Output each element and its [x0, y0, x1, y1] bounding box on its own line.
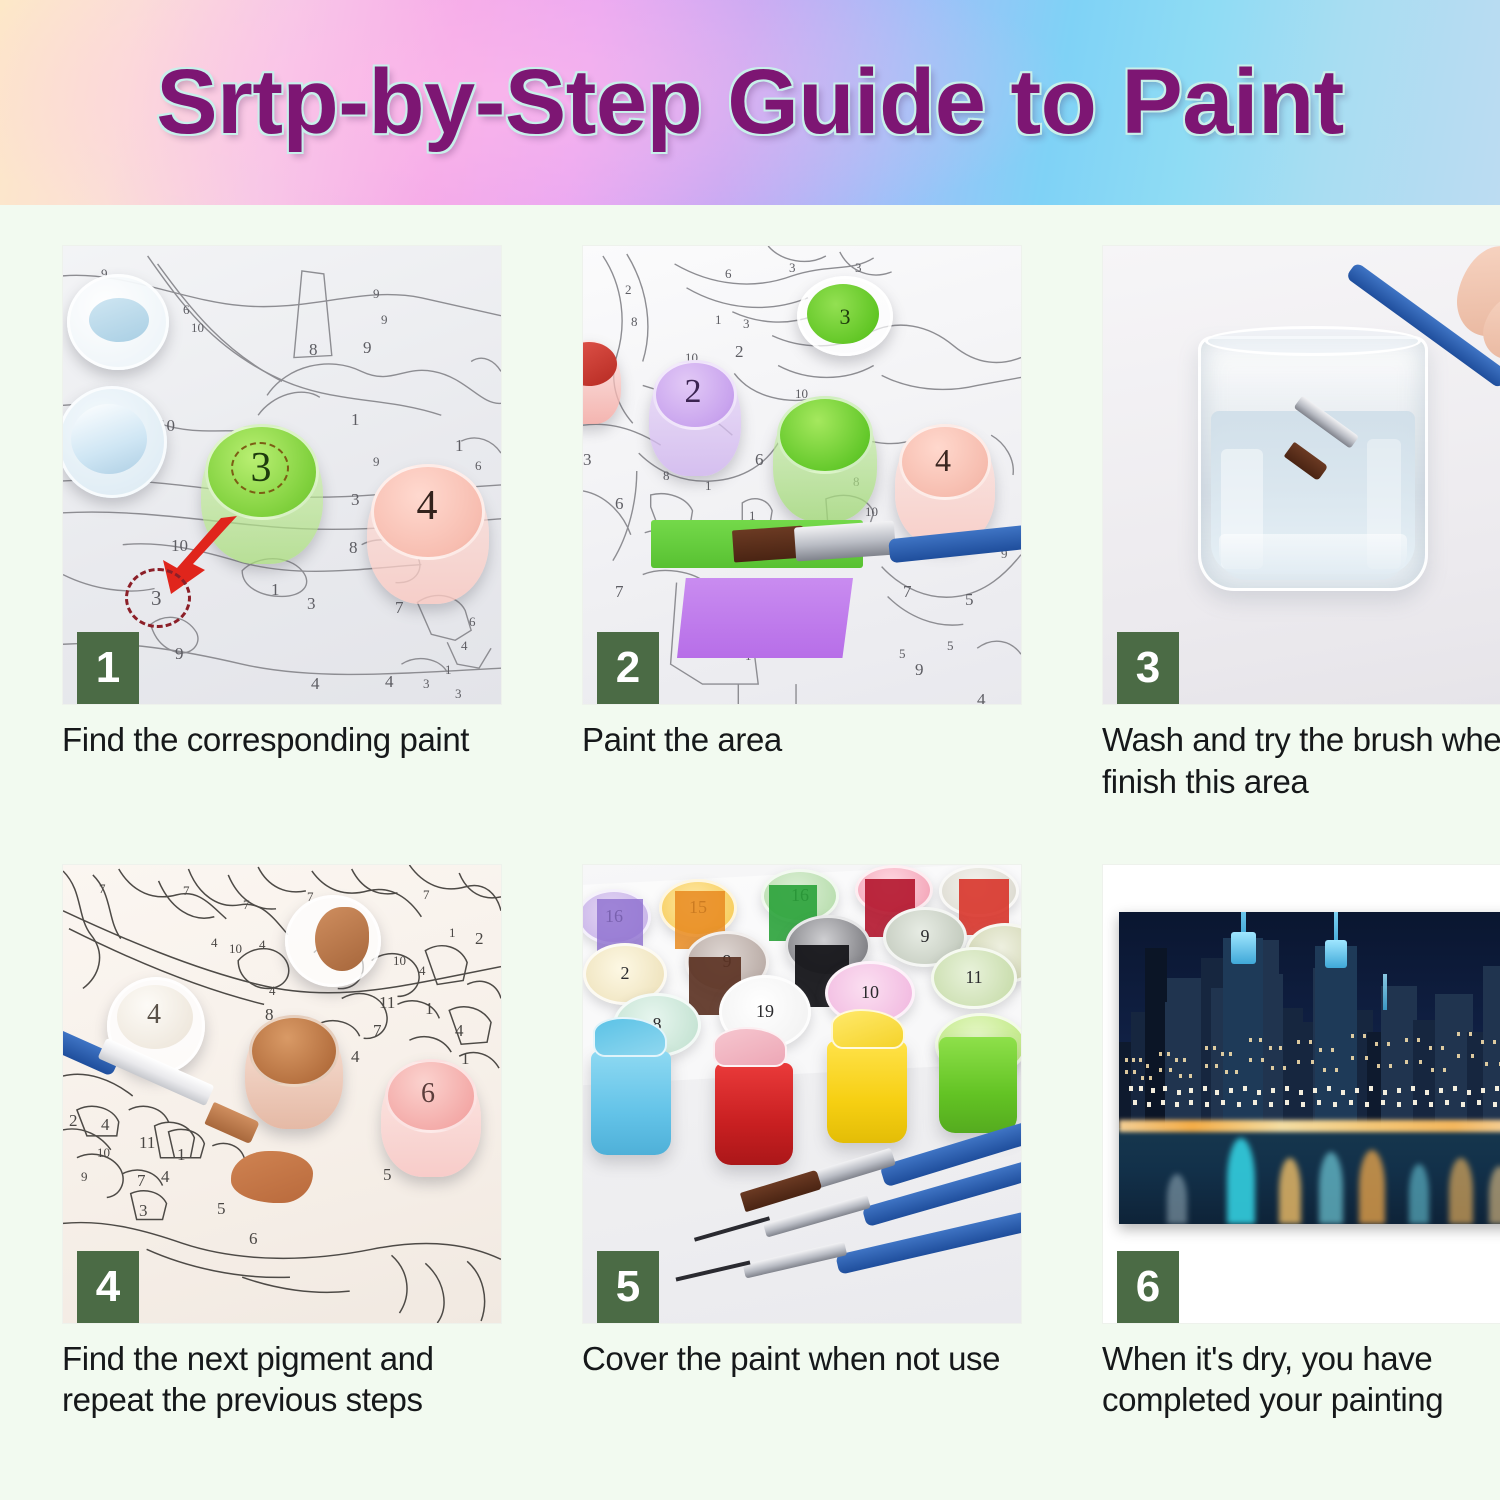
paint-pot-11: 11 [931, 947, 1017, 1009]
step-caption-1: Find the corresponding paint [62, 719, 502, 761]
canvas-number: 9 [175, 644, 184, 664]
canvas-number: 9 [363, 338, 372, 358]
canvas-number: 1 [715, 312, 722, 328]
step-cell-3: 3 Wash and try the brush when finish thi… [1062, 245, 1500, 864]
canvas-number: 10 [229, 941, 242, 957]
paint-pot-light-blue [62, 386, 167, 498]
step-caption-6: When it's dry, you have completed your p… [1102, 1338, 1500, 1421]
brush-ferrule [794, 521, 896, 562]
step-6-image: 6 [1102, 864, 1500, 1324]
canvas-number: 3 [307, 594, 316, 614]
canvas-number: 8 [663, 468, 670, 484]
water-reflection [1227, 1138, 1255, 1224]
canvas-number: 2 [735, 342, 744, 362]
waterfront-lights [1119, 1120, 1500, 1132]
canvas-number: 7 [373, 1021, 382, 1041]
steps-grid: 9 6 10 10 8 9 9 9 1 1 10 3 9 6 8 3 1 9 4… [0, 205, 1500, 1500]
step-caption-5: Cover the paint when not use [582, 1338, 1022, 1380]
paint-pot-pink-4: 4 [895, 424, 995, 546]
paint-pot-pink-6: 6 [381, 1059, 481, 1177]
pot-label-6: 6 [411, 1073, 445, 1115]
canvas-number: 9 [373, 286, 380, 302]
canvas-number: 8 [349, 538, 358, 558]
canvas-number: 5 [899, 646, 906, 662]
canvas-number: 4 [351, 1047, 360, 1067]
paint-pot-green-open [773, 396, 877, 522]
water-reflection [1279, 1158, 1301, 1224]
canvas-number: 10 [865, 504, 878, 520]
finished-painting [1119, 912, 1500, 1224]
canvas-number: 1 [445, 662, 452, 678]
canvas-number: 6 [615, 494, 624, 514]
canvas-number: 1 [449, 925, 456, 941]
paint-stroke [231, 1151, 313, 1203]
canvas-number: 8 [631, 314, 638, 330]
open-paint-pot-red [715, 1063, 793, 1165]
paint-pot-tan-open [285, 895, 381, 987]
canvas-number: 4 [977, 690, 986, 705]
canvas-number: 5 [947, 638, 954, 654]
canvas-number: 7 [903, 582, 912, 602]
window-lights [1119, 912, 1500, 1128]
canvas-number: 7 [137, 1171, 146, 1191]
target-number: 3 [151, 586, 162, 611]
step-cell-1: 9 6 10 10 8 9 9 9 1 1 10 3 9 6 8 3 1 9 4… [22, 245, 542, 864]
canvas-number: 3 [583, 450, 592, 470]
canvas-number: 6 [755, 450, 764, 470]
step-caption-2: Paint the area [582, 719, 1022, 761]
canvas-number: 10 [191, 320, 204, 336]
page-title: Srtp-by-Step Guide to Paint [156, 50, 1344, 155]
paint-pot-green-open-3: 3 [797, 276, 893, 356]
canvas-number: 3 [351, 490, 360, 510]
canvas-number: 6 [475, 458, 482, 474]
canvas-number: 4 [101, 1115, 110, 1135]
pot-label-3: 3 [241, 444, 281, 492]
canvas-number: 7 [615, 582, 624, 602]
step-cell-5: 16 15 16 2 9 9 8 [542, 864, 1062, 1483]
canvas-number: 4 [269, 983, 276, 999]
canvas-number: 11 [139, 1133, 155, 1153]
canvas-number: 10 [97, 1145, 110, 1161]
paint-pot-pink-4: 4 [367, 464, 489, 604]
canvas-number: 1 [705, 478, 712, 494]
canvas-number: 9 [915, 660, 924, 680]
canvas-number: 5 [217, 1199, 226, 1219]
water-reflection [1409, 1164, 1429, 1224]
water-reflection [1449, 1158, 1473, 1224]
open-paint-pot-yellow [827, 1041, 907, 1143]
pot-label-2: 2 [675, 370, 711, 414]
step-2-image: 6 2 3 3 1 3 2 10 8 3 6 10 8 1 6 1 8 10 7… [582, 245, 1022, 705]
canvas-number: 7 [243, 897, 250, 913]
paint-pot-purple-2: 2 [649, 360, 741, 476]
step-badge-4: 4 [77, 1251, 139, 1323]
step-4-image: 7 7 7 4 10 4 7 7 1 2 4 8 11 1 10 4 7 4 4… [62, 864, 502, 1324]
canvas-number: 1 [461, 1049, 470, 1069]
canvas-number: 1 [177, 1145, 186, 1165]
canvas-number: 8 [309, 340, 318, 360]
canvas-number: 5 [965, 590, 974, 610]
paint-pot-brown [245, 1015, 343, 1129]
step-badge-1: 1 [77, 632, 139, 704]
canvas-number: 3 [455, 686, 462, 702]
step-badge-6: 6 [1117, 1251, 1179, 1323]
glass-rim [1205, 326, 1421, 356]
canvas-number: 1 [271, 580, 280, 600]
pot-label-4: 4 [405, 480, 449, 532]
paint-guide-page: Srtp-by-Step Guide to Paint [0, 0, 1500, 1500]
canvas-number: 4 [311, 674, 320, 694]
canvas-number: 2 [475, 929, 484, 949]
step-3-image: 3 [1102, 245, 1500, 705]
canvas-number: 1 [425, 999, 434, 1019]
canvas-number: 11 [379, 993, 395, 1013]
canvas-number: 3 [855, 260, 862, 276]
painted-area-purple [677, 578, 853, 658]
canvas-number: 2 [625, 282, 632, 298]
canvas-number: 6 [249, 1229, 258, 1249]
open-paint-pot-blue [591, 1051, 671, 1155]
canvas-number: 1 [455, 436, 464, 456]
step-badge-5: 5 [597, 1251, 659, 1323]
canvas-number: 1 [351, 410, 360, 430]
canvas-number: 4 [461, 638, 468, 654]
canvas-number: 3 [743, 316, 750, 332]
step-cell-6: 6 When it's dry, you have completed your… [1062, 864, 1500, 1483]
canvas-number: 9 [381, 312, 388, 328]
canvas-number: 7 [99, 881, 106, 897]
step-badge-2: 2 [597, 632, 659, 704]
canvas-number: 3 [423, 676, 430, 692]
canvas-number: 7 [423, 887, 430, 903]
canvas-number: 4 [211, 935, 218, 951]
water-reflection [1319, 1152, 1343, 1224]
canvas-number: 4 [161, 1167, 170, 1187]
canvas-number: 4 [455, 1021, 464, 1041]
canvas-number: 4 [419, 963, 426, 979]
step-badge-3: 3 [1117, 632, 1179, 704]
canvas-number: 3 [789, 260, 796, 276]
pot-label-3: 3 [831, 302, 859, 332]
paint-pot-pale-blue [67, 274, 169, 370]
pot-label-4: 4 [137, 995, 171, 1035]
step-1-image: 9 6 10 10 8 9 9 9 1 1 10 3 9 6 8 3 1 9 4… [62, 245, 502, 705]
canvas-number: 7 [395, 598, 404, 618]
canvas-number: 6 [183, 302, 190, 318]
canvas-number: 3 [139, 1201, 148, 1221]
water-reflection [1359, 1150, 1385, 1224]
canvas-number: 4 [259, 937, 266, 953]
canvas-number: 10 [393, 953, 406, 969]
canvas-number: 4 [385, 672, 394, 692]
water-reflection [1167, 1174, 1187, 1224]
canvas-number: 5 [383, 1165, 392, 1185]
step-caption-3: Wash and try the brush when finish this … [1102, 719, 1500, 802]
pot-label-4: 4 [925, 438, 961, 482]
page-header: Srtp-by-Step Guide to Paint [0, 0, 1500, 205]
step-cell-4: 7 7 7 4 10 4 7 7 1 2 4 8 11 1 10 4 7 4 4… [22, 864, 542, 1483]
canvas-number: 6 [469, 614, 476, 630]
canvas-number: 2 [69, 1111, 78, 1131]
step-5-image: 16 15 16 2 9 9 8 [582, 864, 1022, 1324]
open-paint-pot-green [939, 1037, 1017, 1133]
step-caption-4: Find the next pigment and repeat the pre… [62, 1338, 502, 1421]
canvas-number: 9 [373, 454, 380, 470]
canvas-number: 6 [725, 266, 732, 282]
canvas-number: 7 [183, 883, 190, 899]
step-cell-2: 6 2 3 3 1 3 2 10 8 3 6 10 8 1 6 1 8 10 7… [542, 245, 1062, 864]
canvas-number: 9 [81, 1169, 88, 1185]
